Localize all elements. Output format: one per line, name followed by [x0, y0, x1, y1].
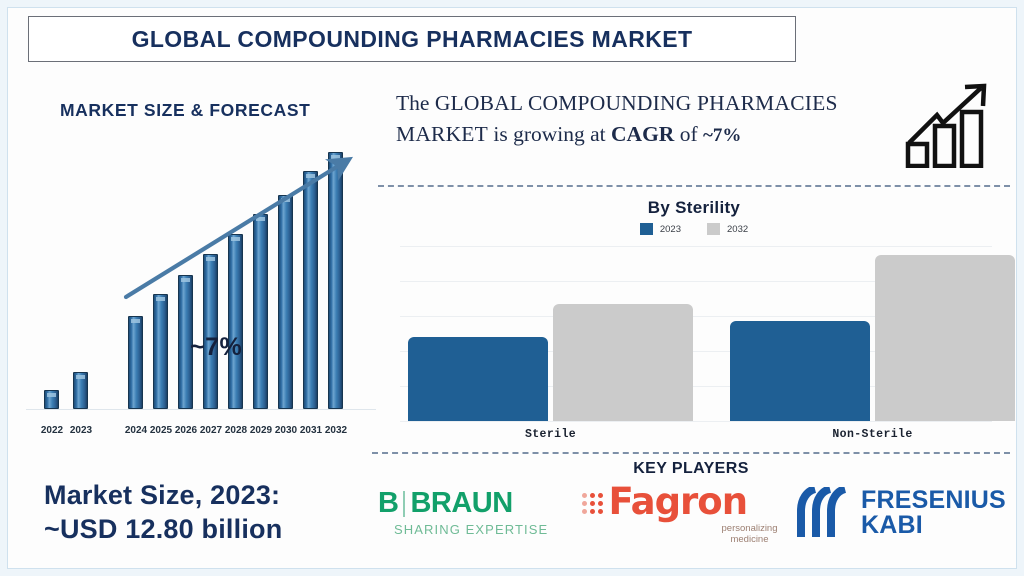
forecast-bar — [228, 234, 243, 409]
b-braun-divider-rule — [403, 491, 405, 517]
legend-label: 2023 — [660, 224, 681, 235]
sterility-chart-title: By Sterility — [378, 198, 1010, 218]
forecast-bar — [278, 195, 293, 409]
sterility-bar — [730, 321, 870, 421]
forecast-bar — [153, 294, 168, 409]
sterility-category-label: Non-Sterile — [700, 428, 1024, 441]
key-players-title: KEY PLAYERS — [372, 460, 1010, 478]
statement-cagr-of: of — [674, 122, 703, 146]
fagron-dots-icon — [582, 493, 603, 514]
forecast-bar — [128, 316, 143, 409]
infographic-page: GLOBAL COMPOUNDING PHARMACIES MARKET MAR… — [0, 0, 1024, 576]
growth-statement: The GLOBAL COMPOUNDING PHARMACIES MARKET… — [396, 88, 866, 150]
market-size-forecast-heading: MARKET SIZE & FORECAST — [60, 100, 310, 121]
sterility-bar — [875, 255, 1015, 421]
page-title-box: GLOBAL COMPOUNDING PHARMACIES MARKET — [28, 16, 796, 62]
forecast-bar-cap — [181, 278, 190, 282]
forecast-bar — [253, 214, 268, 409]
statement-lead: The — [396, 91, 435, 115]
forecast-bar — [203, 254, 218, 409]
logo-b-braun: B BRAUN SHARING EXPERTISE — [374, 489, 568, 537]
fagron-tagline-line-2: medicine — [722, 535, 778, 546]
logo-fresenius-kabi: FRESENIUS KABI — [795, 487, 1010, 539]
market-forecast-plot: ~7% — [18, 150, 378, 418]
market-forecast-chart: ~7% 202220232024202520262027202820292030… — [18, 150, 378, 420]
statement-cagr-value: ~7% — [703, 125, 741, 146]
forecast-bar — [303, 171, 318, 409]
market-size-line-1: Market Size, 2023: — [44, 478, 282, 512]
b-braun-wordmark: B BRAUN — [378, 489, 568, 518]
forecast-bar-cap — [281, 198, 290, 202]
statement-cagr-label: CAGR — [611, 122, 674, 146]
sterility-chart — [400, 246, 992, 421]
fresenius-kabi-wordmark: FRESENIUS KABI — [861, 488, 1006, 539]
fresenius-kabi-mark-icon — [795, 487, 849, 539]
forecast-bar-cap — [256, 217, 265, 221]
logo-fagron: Fagron personalizing medicine — [582, 484, 782, 542]
market-size-line-2: ~USD 12.80 billion — [44, 512, 282, 546]
chart-gridline — [400, 246, 992, 247]
forecast-bar-cap — [76, 375, 85, 379]
statement-mid: is growing at — [488, 122, 611, 146]
forecast-bar-cap — [131, 319, 140, 323]
page-title: GLOBAL COMPOUNDING PHARMACIES MARKET — [132, 26, 693, 53]
b-braun-word: BRAUN — [410, 489, 512, 518]
legend-item[interactable]: 2023 — [640, 223, 681, 235]
sterility-legend: 20232032 — [378, 223, 1010, 235]
growth-bar-arrow-icon — [905, 82, 1003, 168]
sterility-bar — [408, 337, 548, 421]
fagron-word: Fagron — [609, 484, 748, 519]
forecast-bar — [328, 152, 343, 409]
key-players-logos: B BRAUN SHARING EXPERTISE Fagron persona… — [374, 482, 1010, 544]
sterility-category-label: Sterile — [378, 428, 723, 441]
forecast-year-label: 2032 — [319, 425, 353, 436]
forecast-bar-cap — [231, 237, 240, 241]
forecast-bar-cap — [47, 393, 56, 397]
legend-label: 2032 — [727, 224, 748, 235]
forecast-bar-cap — [156, 297, 165, 301]
legend-item[interactable]: 2032 — [707, 223, 748, 235]
fagron-tagline: personalizing medicine — [722, 524, 778, 546]
growth-trend-arrow — [18, 150, 378, 420]
chart-baseline — [26, 409, 376, 410]
legend-swatch — [707, 223, 720, 235]
sterility-bar — [553, 304, 693, 421]
chart-gridline — [400, 421, 992, 422]
b-braun-letter-b: B — [378, 489, 398, 518]
forecast-bar — [73, 372, 88, 409]
fresenius-kabi-line-1: FRESENIUS — [861, 488, 1006, 514]
forecast-bar — [44, 390, 59, 409]
forecast-bar-cap — [306, 174, 315, 178]
divider-bottom — [372, 452, 1010, 454]
cagr-annotation: ~7% — [190, 333, 242, 362]
divider-top — [378, 185, 1010, 187]
legend-swatch — [640, 223, 653, 235]
forecast-bar-cap — [206, 257, 215, 261]
b-braun-tagline: SHARING EXPERTISE — [394, 522, 568, 537]
forecast-bar-cap — [331, 155, 340, 159]
market-size-callout: Market Size, 2023: ~USD 12.80 billion — [44, 478, 282, 546]
forecast-year-label: 2023 — [64, 425, 98, 436]
fagron-wordmark: Fagron — [582, 484, 782, 519]
fresenius-kabi-line-2: KABI — [861, 513, 1006, 539]
